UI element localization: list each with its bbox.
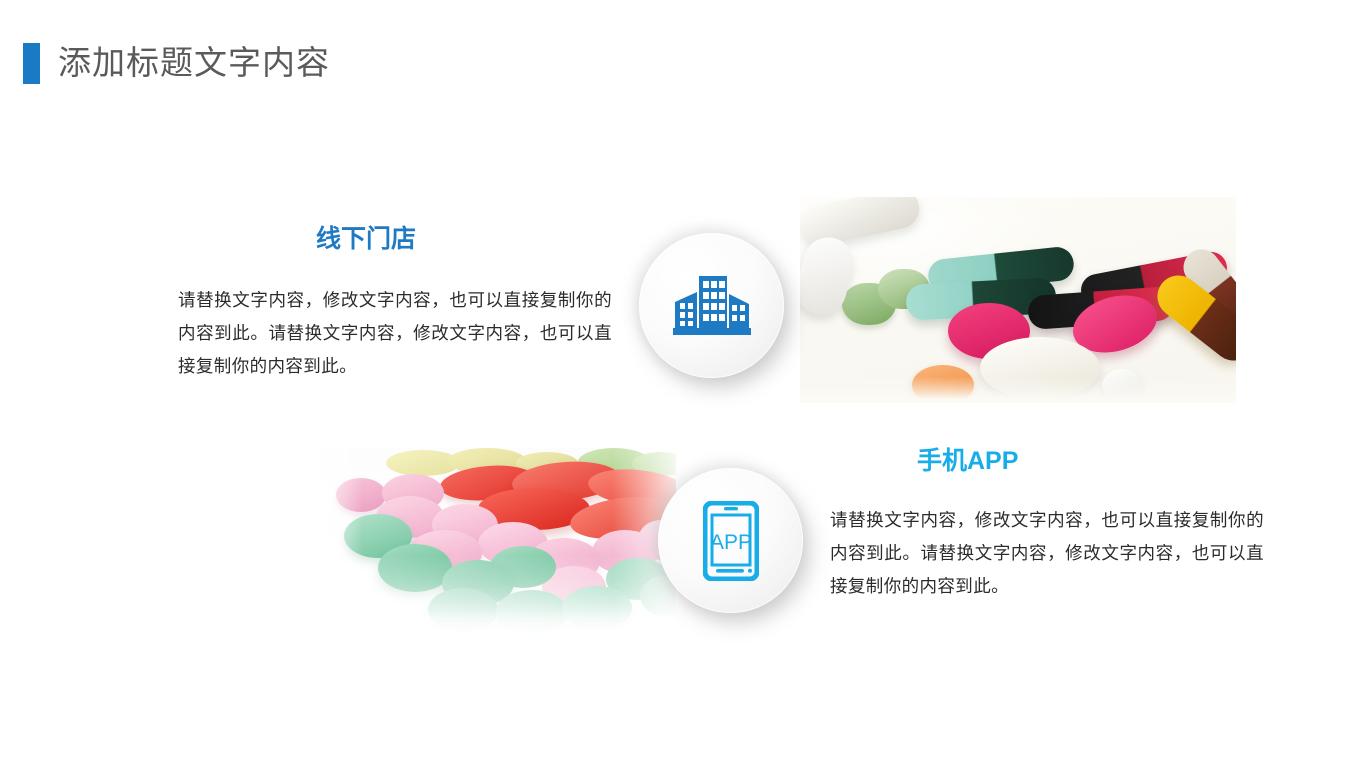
offline-store-heading: 线下门店 bbox=[316, 222, 416, 256]
page-title: 添加标题文字内容 bbox=[58, 40, 330, 85]
app-icon-label: APP bbox=[709, 531, 751, 554]
mobile-app-icon-badge[interactable]: APP bbox=[658, 468, 803, 613]
green-tablet bbox=[428, 588, 498, 632]
pills-capsules-photo bbox=[800, 197, 1236, 403]
title-accent-bar bbox=[23, 43, 40, 84]
colored-tablets-photo bbox=[320, 448, 676, 633]
mobile-app-body: 请替换文字内容，修改文字内容，也可以直接复制你的内容到此。请替换文字内容，修改文… bbox=[830, 504, 1264, 603]
photo-fade bbox=[800, 377, 1236, 403]
offline-store-body: 请替换文字内容，修改文字内容，也可以直接复制你的内容到此。请替换文字内容，修改文… bbox=[178, 284, 612, 383]
slide-header: 添加标题文字内容 bbox=[0, 0, 1350, 120]
green-tablet bbox=[378, 544, 452, 592]
green-tablet bbox=[562, 586, 632, 630]
offline-store-icon-badge[interactable] bbox=[639, 233, 784, 378]
smartphone-app-icon: APP bbox=[703, 501, 759, 581]
mobile-app-heading: 手机APP bbox=[917, 444, 1018, 478]
green-tablet bbox=[496, 590, 568, 633]
building-icon bbox=[673, 272, 751, 340]
